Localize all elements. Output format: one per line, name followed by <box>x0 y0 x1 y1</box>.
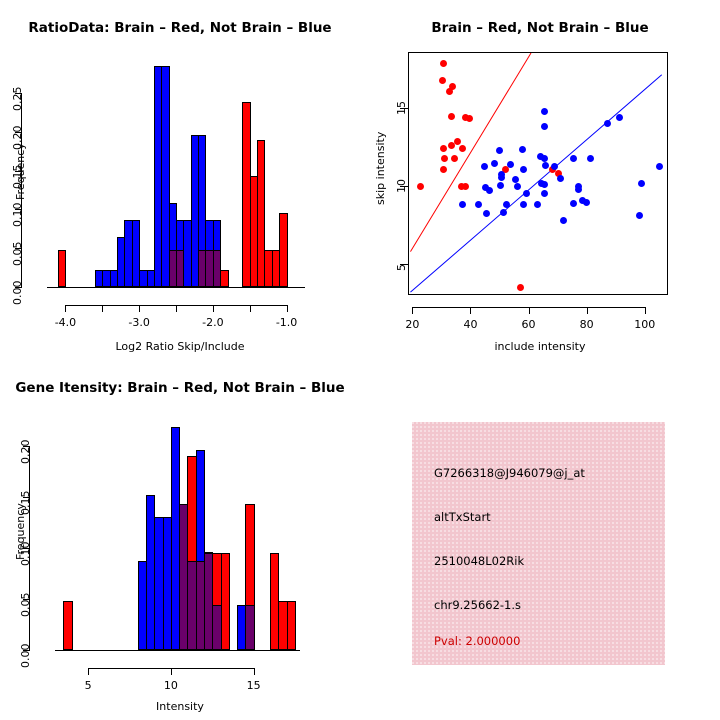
y-tick-label: 0.20 <box>11 125 24 150</box>
scatter-point <box>441 155 448 162</box>
y-tick-label: 0.00 <box>19 644 32 669</box>
scatter-point <box>439 77 446 84</box>
scatter-point <box>512 176 519 183</box>
gene-info-panel: G7266318@J946079@j_ataltTxStart2510048L0… <box>412 422 665 665</box>
scatter-point <box>541 108 548 115</box>
scatter-point <box>541 123 548 130</box>
y-tick-label: 5 <box>395 264 408 271</box>
x-axis-tick <box>287 305 288 312</box>
histogram-bar <box>287 601 296 650</box>
x-axis-tick <box>213 305 214 312</box>
x-tick-label: 5 <box>85 679 92 692</box>
y-tick-label: 0.10 <box>19 541 32 566</box>
x-tick-label: 60 <box>522 318 536 331</box>
gene-info-line: Pval: 2.000000 <box>434 634 520 648</box>
blue-line <box>410 75 661 292</box>
figure-canvas: RatioData: Brain – Red, Not Brain – Blue… <box>0 0 720 720</box>
scatter-point <box>483 210 490 217</box>
intensity-scatter-xlabel: include intensity <box>360 340 720 353</box>
x-axis-tick <box>645 307 646 314</box>
histogram-bar-overlap <box>245 605 254 650</box>
scatter-point <box>520 201 527 208</box>
scatter-point <box>497 182 504 189</box>
x-tick-label: -4.0 <box>55 316 76 329</box>
scatter-frame <box>408 52 668 295</box>
gene-info-line: 2510048L02Rik <box>434 554 524 568</box>
intensity-scatter-panel: Brain – Red, Not Brain – Blue skip inten… <box>360 0 720 360</box>
scatter-point <box>417 183 424 190</box>
y-tick-label: 0.20 <box>19 439 32 464</box>
x-tick-label: 40 <box>463 318 477 331</box>
x-axis-tick <box>254 668 255 675</box>
scatter-point <box>551 163 558 170</box>
x-tick-label: 10 <box>164 679 178 692</box>
scatter-point <box>570 200 577 207</box>
scatter-point <box>507 161 514 168</box>
ratio-histogram-title: RatioData: Brain – Red, Not Brain – Blue <box>0 20 360 36</box>
x-axis-tick <box>139 305 140 312</box>
y-tick-label: 0.05 <box>11 242 24 267</box>
scatter-point <box>541 181 548 188</box>
x-axis-tick <box>587 307 588 314</box>
y-tick-label: 0.25 <box>11 87 24 112</box>
scatter-point <box>636 212 643 219</box>
red-line <box>410 53 531 252</box>
ratio-histogram-xlabel: Log2 Ratio Skip/Include <box>0 340 360 353</box>
x-axis-tick <box>250 305 251 312</box>
x-tick-label: -1.0 <box>276 316 297 329</box>
scatter-point <box>560 217 567 224</box>
x-axis-tick <box>176 305 177 312</box>
x-tick-label: -3.0 <box>128 316 149 329</box>
scatter-point <box>440 60 447 67</box>
scatter-point <box>466 115 473 122</box>
baseline <box>55 650 300 651</box>
x-axis-tick <box>529 307 530 314</box>
y-tick-label: 0.15 <box>11 164 24 189</box>
y-tick-label: 0.00 <box>11 281 24 306</box>
x-tick-label: 20 <box>405 318 419 331</box>
scatter-point <box>519 146 526 153</box>
y-tick-label: 10 <box>395 179 408 193</box>
scatter-point <box>481 163 488 170</box>
x-tick-label: 15 <box>247 679 261 692</box>
intensity-scatter-title: Brain – Red, Not Brain – Blue <box>360 20 720 36</box>
scatter-point <box>491 160 498 167</box>
x-tick-label: 100 <box>634 318 655 331</box>
scatter-point <box>451 155 458 162</box>
gene-info-line: G7266318@J946079@j_at <box>434 466 585 480</box>
scatter-point <box>486 187 493 194</box>
histogram-bar <box>221 553 230 650</box>
scatter-point <box>541 155 548 162</box>
baseline <box>47 287 305 288</box>
y-tick-label: 0.05 <box>19 592 32 617</box>
x-axis-tick <box>65 305 66 312</box>
x-axis-tick <box>102 305 103 312</box>
y-tick-label: 15 <box>395 101 408 115</box>
x-axis-tick <box>412 307 413 314</box>
x-axis-tick <box>470 307 471 314</box>
histogram-bar <box>220 270 228 287</box>
gene-info-line: altTxStart <box>434 510 491 524</box>
x-axis-tick <box>171 668 172 675</box>
x-tick-label: -2.0 <box>202 316 223 329</box>
gene-intensity-title: Gene Itensity: Brain – Red, Not Brain – … <box>0 380 360 396</box>
intensity-scatter-ylabel: skip intensity <box>374 132 387 205</box>
histogram-bar <box>279 213 287 287</box>
gene-intensity-panel: Gene Itensity: Brain – Red, Not Brain – … <box>0 360 360 720</box>
histogram-bar <box>63 601 72 650</box>
histogram-bar <box>58 250 66 287</box>
scatter-point <box>583 199 590 206</box>
y-tick-label: 0.15 <box>19 490 32 515</box>
x-axis-tick <box>88 668 89 675</box>
ratio-histogram-panel: RatioData: Brain – Red, Not Brain – Blue… <box>0 0 360 360</box>
y-tick-label: 0.10 <box>11 203 24 228</box>
scatter-point <box>616 114 623 121</box>
x-tick-label: 80 <box>580 318 594 331</box>
gene-intensity-xlabel: Intensity <box>0 700 360 713</box>
gene-info-line: chr9.25662-1.s <box>434 598 521 612</box>
